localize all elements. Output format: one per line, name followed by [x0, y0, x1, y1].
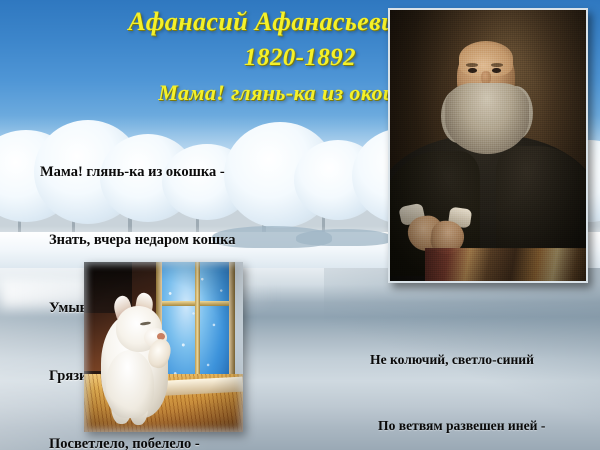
poem-line: Знать, вчера недаром кошка — [40, 229, 236, 252]
poem-line: Мама! глянь-ка из окошка - — [40, 161, 236, 184]
poem-line: Не колючий, светло-синий — [370, 349, 555, 371]
portrait-vignette — [390, 10, 586, 281]
poem-line: Посветлело, побелело - — [40, 433, 236, 450]
presentation-slide: Афанасий Афанасьевич Фет 1820-1892 Мама!… — [0, 0, 600, 450]
portrait-photo-fet — [388, 8, 588, 283]
poem-stanza-right: Не колючий, светло-синий По ветвям разве… — [370, 305, 555, 450]
cat-photo-feathered-edge — [84, 262, 243, 432]
cat-photo — [84, 262, 243, 432]
poem-line: По ветвям развешен иней - — [370, 415, 555, 437]
